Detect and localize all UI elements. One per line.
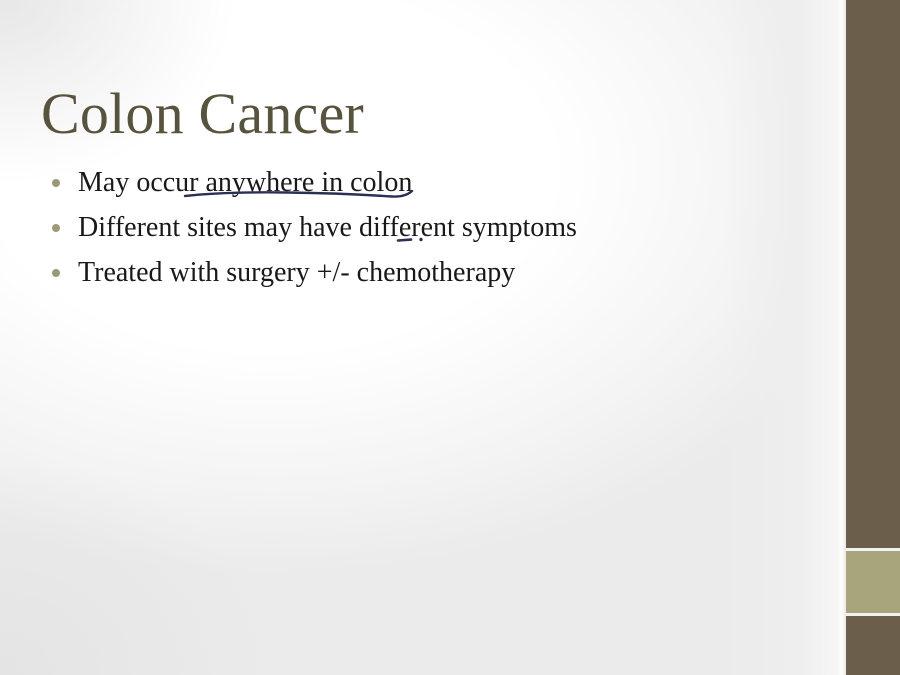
list-item: Treated with surgery +/- chemotherapy (44, 250, 784, 295)
list-item: Different sites may have different sympt… (44, 205, 784, 250)
slide-canvas: Colon Cancer May occur anywhere in colon… (0, 0, 900, 675)
sidebar-left-edge-highlight (838, 0, 846, 675)
background-shade-right (724, 0, 844, 675)
bullet-dot-icon (52, 269, 60, 277)
sidebar-band-bottom (846, 616, 900, 675)
slide-bullet-list: May occur anywhere in colon Different si… (44, 160, 784, 295)
list-item-label: Different sites may have different sympt… (78, 205, 577, 250)
sidebar-band-middle (846, 551, 900, 613)
list-item-label: May occur anywhere in colon (78, 160, 412, 205)
list-item: May occur anywhere in colon (44, 160, 784, 205)
list-item-label: Treated with surgery +/- chemotherapy (78, 250, 515, 295)
background-shade-bottom-left (0, 465, 260, 675)
bullet-dot-icon (52, 224, 60, 232)
decorative-sidebar (846, 0, 900, 675)
sidebar-band-top (846, 0, 900, 548)
slide-title: Colon Cancer (41, 81, 364, 147)
bullet-dot-icon (52, 179, 60, 187)
